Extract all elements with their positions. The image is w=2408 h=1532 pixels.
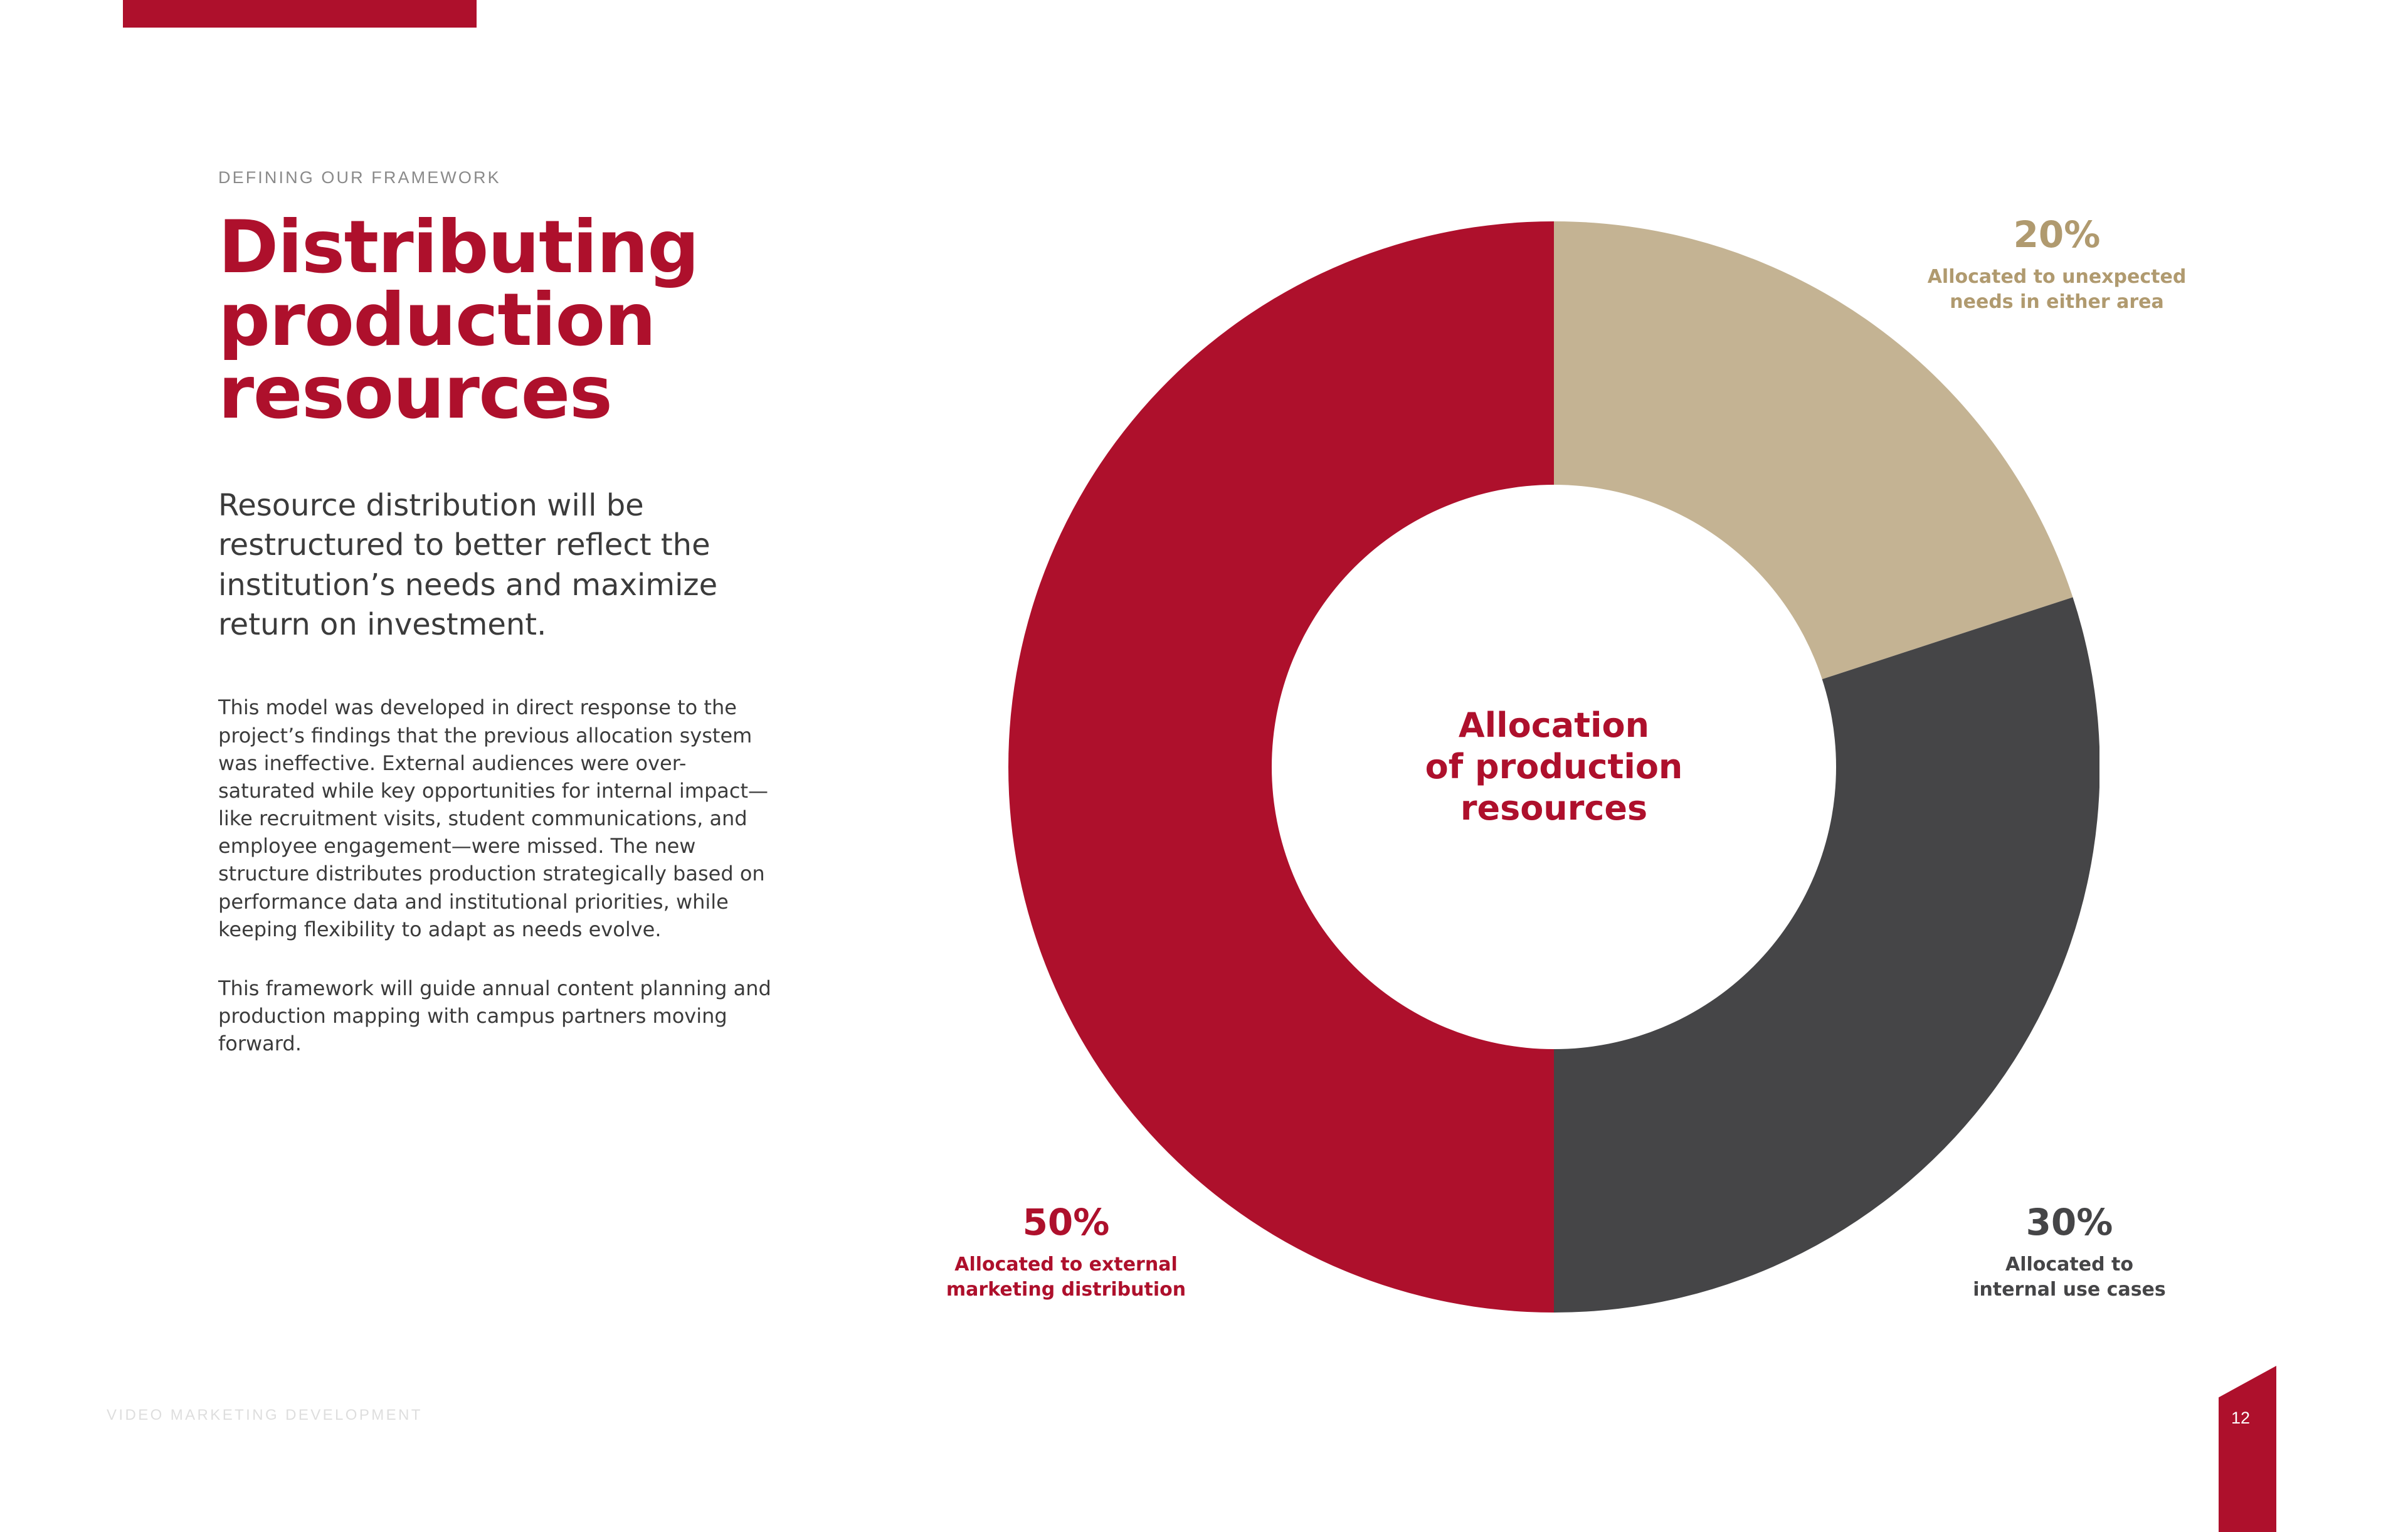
callout-desc-internal-line-2: internal use cases (1931, 1277, 2207, 1302)
donut-center-line-2: of production (1316, 746, 1792, 788)
callout-percent-internal: 30% (1931, 1201, 2207, 1244)
left-text-column: DEFINING OUR FRAMEWORK Distributing prod… (218, 168, 801, 1057)
donut-chart: Allocation of production resources (1008, 221, 2099, 1313)
callout-desc-unexpected-line-1: Allocated to unexpected (1913, 265, 2201, 290)
callout-desc-unexpected-line-2: needs in either area (1913, 290, 2201, 315)
page-title-line-2: production (218, 284, 801, 357)
body-paragraph-2: This framework will guide annual content… (218, 975, 783, 1057)
callout-internal-use: 30% Allocated to internal use cases (1931, 1201, 2207, 1302)
callout-unexpected-needs: 20% Allocated to unexpected needs in eit… (1913, 213, 2201, 314)
callout-desc-unexpected: Allocated to unexpected needs in either … (1913, 265, 2201, 314)
callout-percent-external: 50% (903, 1201, 1229, 1244)
callout-external-marketing: 50% Allocated to external marketing dist… (903, 1201, 1229, 1302)
callout-desc-internal: Allocated to internal use cases (1931, 1252, 2207, 1302)
donut-center-line-1: Allocation (1316, 705, 1792, 746)
eyebrow-label: DEFINING OUR FRAMEWORK (218, 168, 801, 188)
page-title-line-3: resources (218, 357, 801, 430)
page-number-badge: 12 (2219, 1366, 2276, 1532)
callout-percent-unexpected: 20% (1913, 213, 2201, 256)
callout-desc-internal-line-1: Allocated to (1931, 1252, 2207, 1277)
lede-paragraph: Resource distribution will be restructur… (218, 486, 770, 645)
body-paragraph-1: This model was developed in direct respo… (218, 694, 783, 943)
top-accent-bar (123, 0, 477, 28)
footer-deck-name: VIDEO MARKETING DEVELOPMENT (107, 1407, 423, 1424)
donut-center-label: Allocation of production resources (1316, 705, 1792, 829)
page-title-line-1: Distributing (218, 211, 801, 284)
page-number: 12 (2231, 1408, 2250, 1428)
callout-desc-external-line-1: Allocated to external (903, 1252, 1229, 1277)
callout-desc-external-line-2: marketing distribution (903, 1277, 1229, 1302)
page-title: Distributing production resources (218, 211, 801, 430)
callout-desc-external: Allocated to external marketing distribu… (903, 1252, 1229, 1302)
donut-center-line-3: resources (1316, 788, 1792, 829)
